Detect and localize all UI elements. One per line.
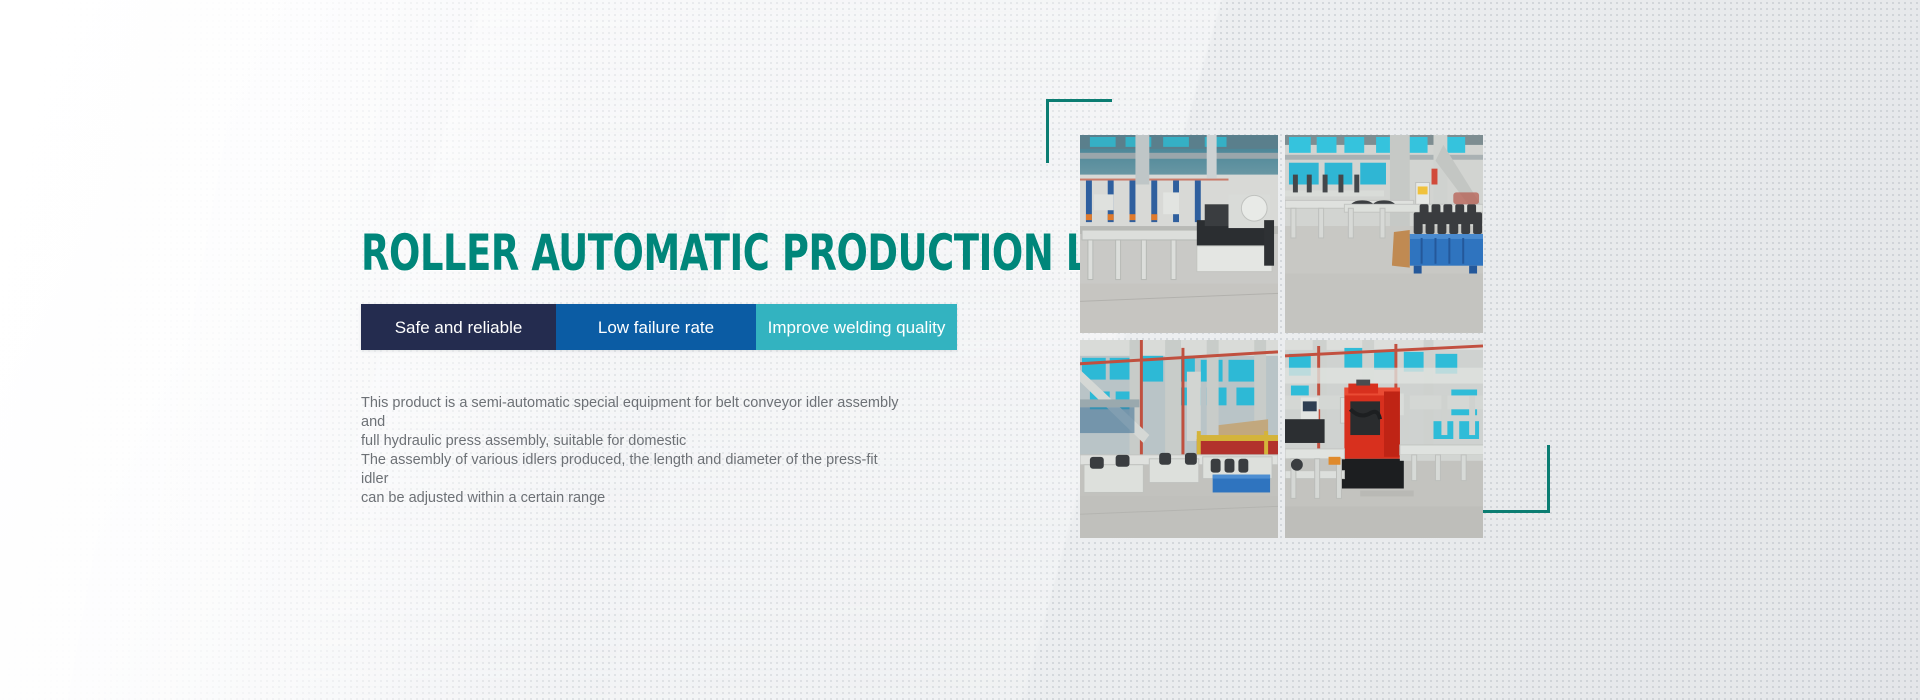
feature-pill-low-failure-rate[interactable]: Low failure rate (556, 304, 756, 350)
photo-factory-conveyor-line[interactable] (1080, 135, 1278, 333)
photo-factory-interior-columns[interactable] (1080, 340, 1278, 538)
corner-bracket-bottom-right-icon (1480, 445, 1550, 513)
feature-pill-bar: Safe and reliable Low failure rate Impro… (361, 304, 957, 350)
photo-gallery-zone (1040, 95, 1600, 565)
description-line-2: full hydraulic press assembly, suitable … (361, 432, 901, 451)
description-line-1: This product is a semi-automatic special… (361, 394, 901, 432)
page-title: ROLLER AUTOMATIC PRODUCTION LINE (361, 226, 902, 280)
product-description: This product is a semi-automatic special… (361, 394, 901, 508)
photo-red-press-machine[interactable] (1285, 340, 1483, 538)
feature-pill-safe-and-reliable[interactable]: Safe and reliable (361, 304, 556, 350)
photo-grid (1080, 135, 1480, 535)
photo-workshop-roller-crate[interactable] (1285, 135, 1483, 333)
description-line-3: The assembly of various idlers produced,… (361, 451, 901, 489)
product-hero-banner: ROLLER AUTOMATIC PRODUCTION LINE Safe an… (0, 0, 1920, 700)
feature-pill-improve-welding-quality[interactable]: Improve welding quality (756, 304, 957, 350)
description-line-4: can be adjusted within a certain range (361, 489, 901, 508)
hero-text-column: ROLLER AUTOMATIC PRODUCTION LINE Safe an… (361, 226, 1021, 508)
